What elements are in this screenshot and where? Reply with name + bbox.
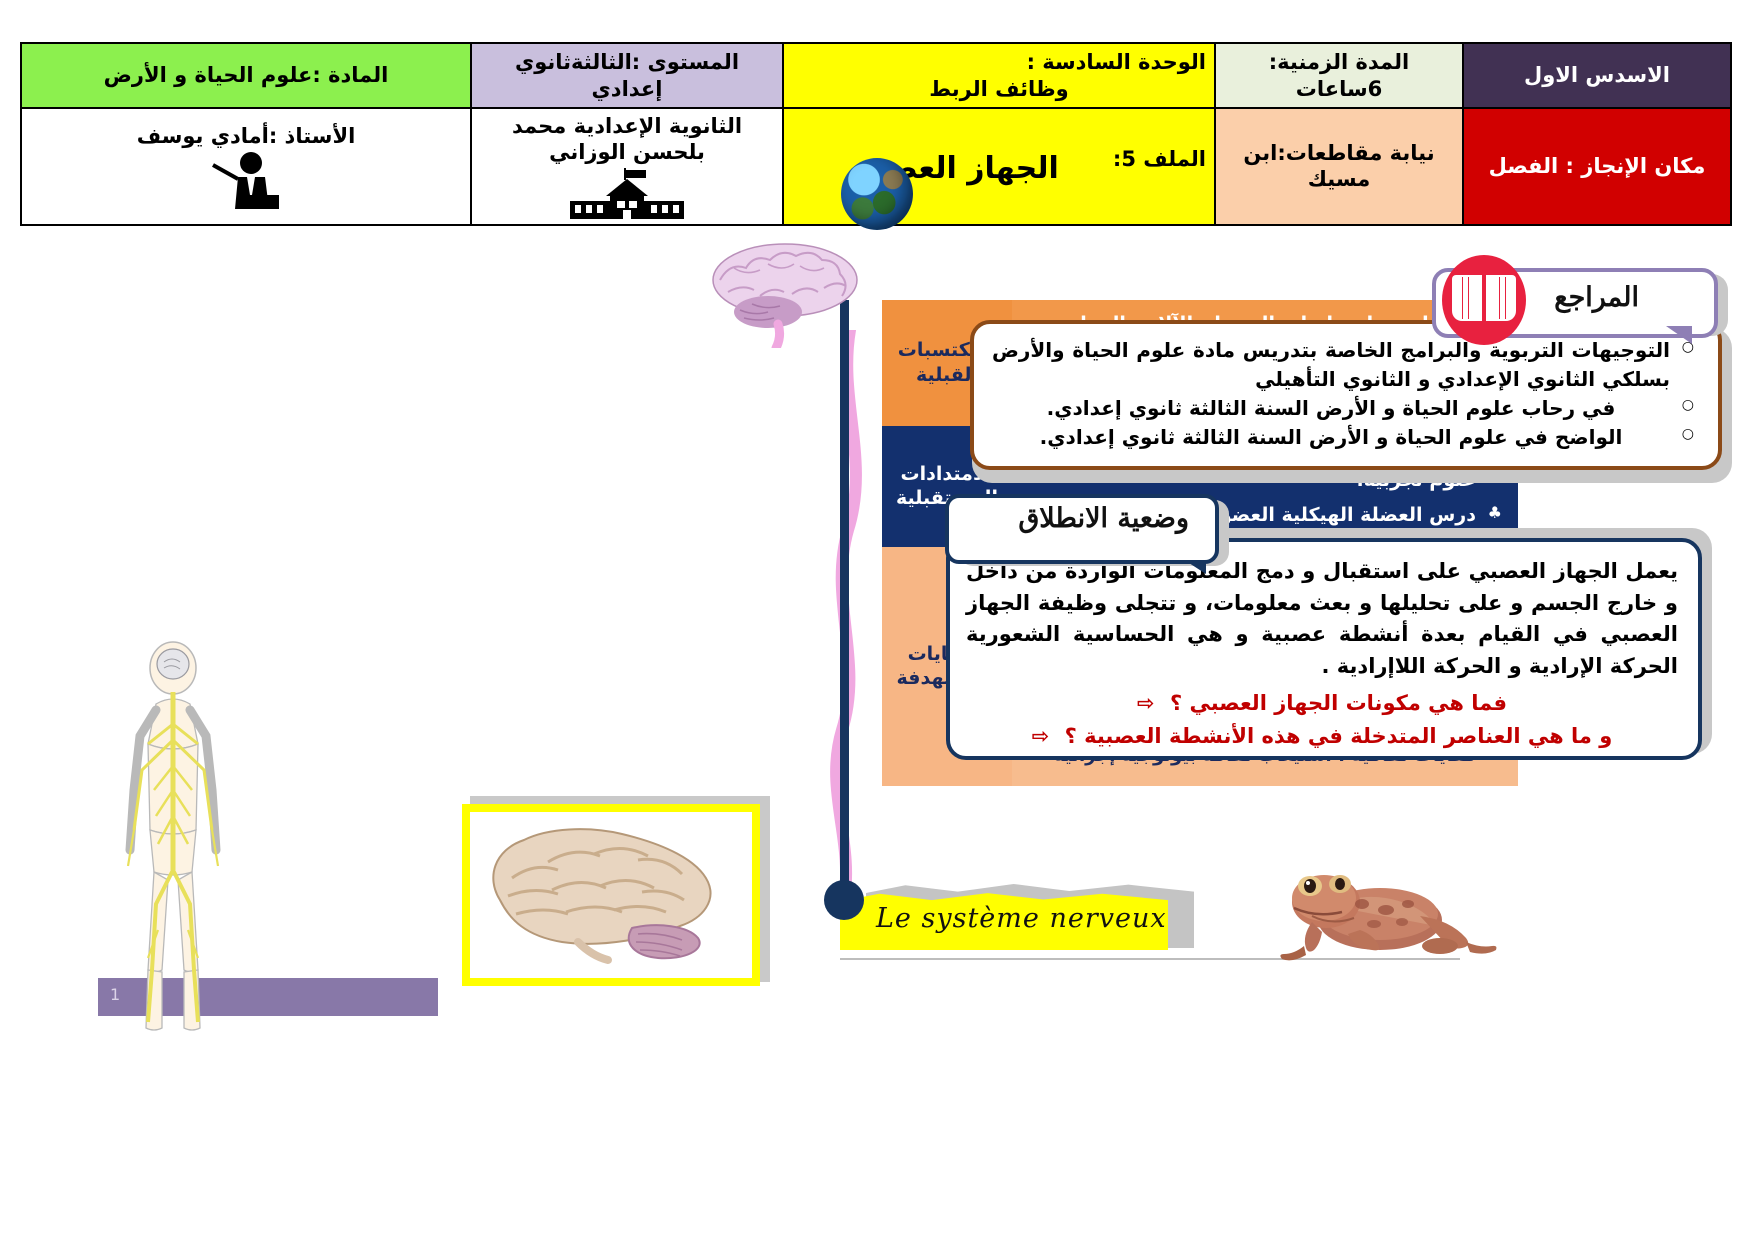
brain-icon (700, 238, 875, 348)
situation-question: و ما هي العناصر المتدخلة في هذه الأنشطة … (966, 724, 1678, 748)
cell-teacher: الأستاذ :أمادي يوسف (21, 108, 471, 225)
arrow-icon: ⇨ (1032, 724, 1050, 748)
connector-line (840, 300, 849, 900)
brain-photo-frame (462, 804, 760, 986)
banner-label: Le système nerveux (876, 903, 1167, 934)
situation-tag-label: وضعية الانطلاق (1018, 503, 1189, 534)
cell-subject: المادة :علوم الحياة و الأرض (21, 43, 471, 108)
situation-question: فما هي مكونات الجهاز العصبي ؟ ⇨ (966, 691, 1678, 715)
situation-question-text: فما هي مكونات الجهاز العصبي ؟ (1170, 691, 1507, 715)
references-tag-label: المراجع (1554, 282, 1639, 313)
book-icon (1442, 255, 1526, 345)
references-box: التوجيهات التربوية والبرامج الخاصة بتدري… (970, 320, 1722, 470)
situation-question-text: و ما هي العناصر المتدخلة في هذه الأنشطة … (1065, 724, 1613, 748)
school-name: الثانوية الإعدادية محمد بلحسن الوزاني (512, 114, 742, 164)
brain-photo (470, 812, 752, 978)
references-list: التوجيهات التربوية والبرامج الخاصة بتدري… (992, 336, 1696, 452)
references-tag-tail (1666, 326, 1692, 344)
unit-title: وظائف الربط (792, 76, 1206, 102)
teacher-name: الأستاذ :أمادي يوسف (137, 124, 356, 148)
header-row-1: الاسدس الاول المدة الزمنية: 6ساعات الوحد… (21, 43, 1731, 108)
situation-box: يعمل الجهاز العصبي على استقبال و دمج الم… (946, 538, 1702, 760)
nervous-system-body-icon (98, 640, 248, 1040)
school-icon (562, 168, 692, 220)
cell-level: المستوى :الثالثةثانوي إعدادي (471, 43, 783, 108)
reference-item: في رحاب علوم الحياة و الأرض السنة الثالث… (992, 394, 1696, 423)
cell-semester: الاسدس الاول (1463, 43, 1731, 108)
cell-unit: الوحدة السادسة : وظائف الربط (783, 43, 1215, 108)
cell-place: مكان الإنجاز : الفصل (1463, 108, 1731, 225)
teacher-icon (207, 151, 285, 209)
file-number: الملف 5: (1113, 146, 1206, 172)
arrow-icon: ⇨ (1137, 691, 1155, 715)
nerve-path-icon (778, 330, 888, 900)
page-number: 1 (110, 985, 120, 1004)
situation-paragraph: يعمل الجهاز العصبي على استقبال و دمج الم… (966, 556, 1678, 682)
reference-item: الواضح في علوم الحياة و الأرض السنة الثا… (992, 423, 1696, 452)
cell-duration: المدة الزمنية: 6ساعات (1215, 43, 1463, 108)
connector-dot (824, 880, 864, 920)
globe-icon (841, 158, 913, 230)
cell-school: الثانوية الإعدادية محمد بلحسن الوزاني (471, 108, 783, 225)
unit-number: الوحدة السادسة : (792, 49, 1206, 75)
cell-delegation: نيابة مقاطعات:ابن مسيك (1215, 108, 1463, 225)
frog-photo (1252, 846, 1502, 976)
reference-item: التوجيهات التربوية والبرامج الخاصة بتدري… (992, 336, 1696, 394)
